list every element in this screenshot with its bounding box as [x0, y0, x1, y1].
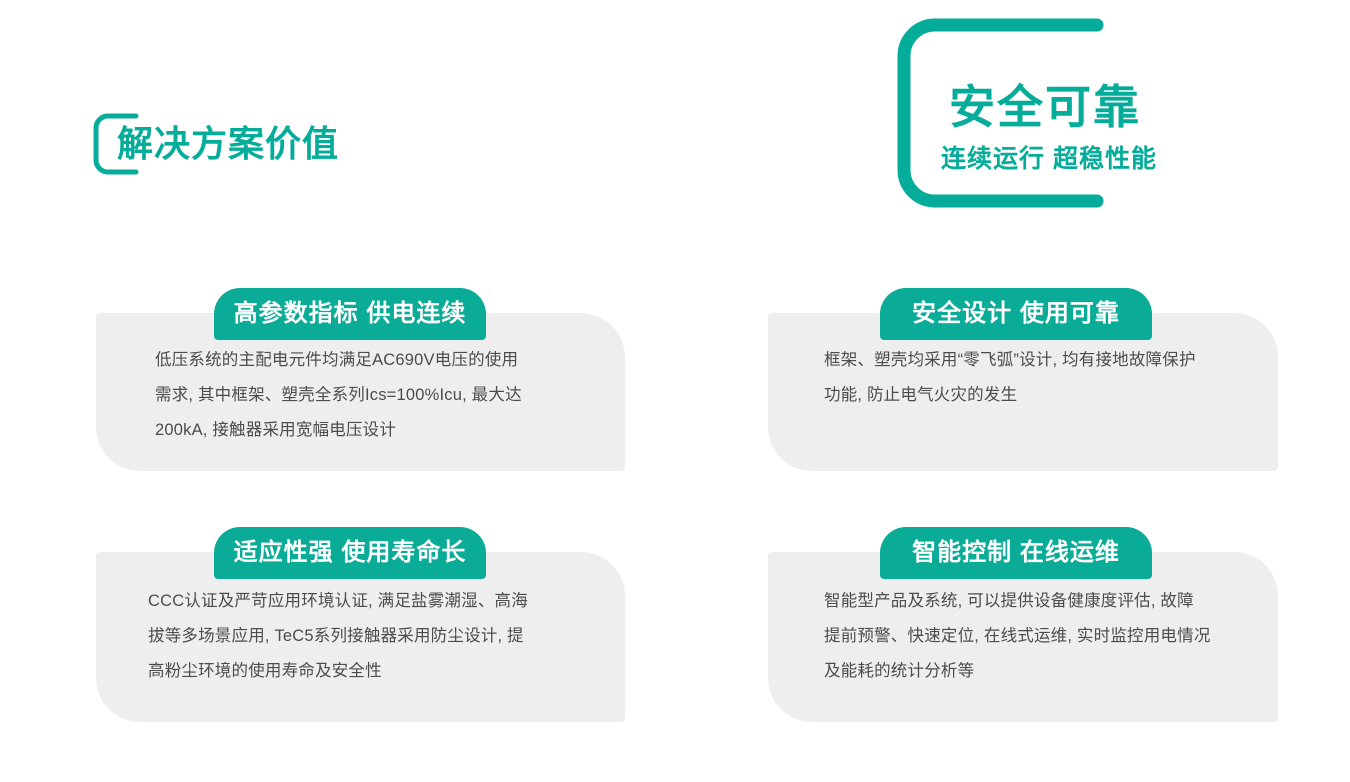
card-body-text: 智能型产品及系统, 可以提供设备健康度评估, 故障 提前预警、快速定位, 在线式…: [824, 584, 1264, 689]
card-pill-header: 适应性强 使用寿命长: [214, 527, 486, 579]
card-body-text: 低压系统的主配电元件均满足AC690V电压的使用 需求, 其中框架、塑壳全系列I…: [155, 343, 585, 448]
feature-card: 安全设计 使用可靠 框架、塑壳均采用“零飞弧”设计, 均有接地故障保护 功能, …: [768, 288, 1288, 478]
card-pill-header: 高参数指标 供电连续: [214, 288, 486, 340]
card-pill-header: 安全设计 使用可靠: [880, 288, 1152, 340]
card-pill-header: 智能控制 在线运维: [880, 527, 1152, 579]
card-pill-label: 智能控制 在线运维: [912, 538, 1120, 568]
card-body-text: 框架、塑壳均采用“零飞弧”设计, 均有接地故障保护 功能, 防止电气火灾的发生: [824, 343, 1254, 413]
hero-subtitle: 连续运行 超稳性能: [941, 142, 1157, 176]
feature-card: 高参数指标 供电连续 低压系统的主配电元件均满足AC690V电压的使用 需求, …: [96, 288, 636, 478]
feature-card: 智能控制 在线运维 智能型产品及系统, 可以提供设备健康度评估, 故障 提前预警…: [768, 527, 1288, 727]
card-pill-label: 安全设计 使用可靠: [912, 299, 1120, 329]
card-body-text: CCC认证及严苛应用环境认证, 满足盐雾潮湿、高海 拔等多场景应用, TeC5系…: [148, 584, 598, 689]
hero-badge: 安全可靠 连续运行 超稳性能: [897, 18, 1177, 208]
section-heading: 解决方案价值: [92, 112, 512, 184]
feature-card: 适应性强 使用寿命长 CCC认证及严苛应用环境认证, 满足盐雾潮湿、高海 拔等多…: [96, 527, 636, 727]
card-pill-label: 高参数指标 供电连续: [234, 299, 467, 329]
page-canvas: 解决方案价值 安全可靠 连续运行 超稳性能 高参数指标 供电连续 低压系统的主配…: [0, 0, 1350, 782]
card-pill-label: 适应性强 使用寿命长: [234, 538, 467, 568]
page-title: 解决方案价值: [117, 119, 339, 169]
hero-title: 安全可靠: [949, 78, 1141, 136]
